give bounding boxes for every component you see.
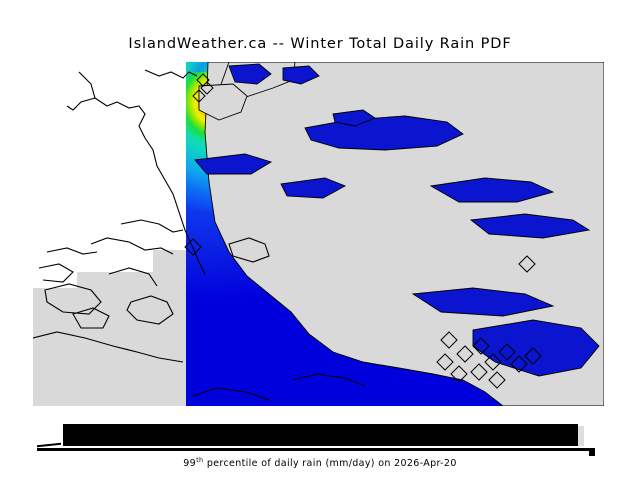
- colorbar-right-tick: [589, 451, 595, 456]
- out-of-domain-water-inlet: [33, 258, 77, 288]
- colorbar-over-cap: [578, 426, 584, 446]
- rain-field-raster: [186, 62, 604, 406]
- colorbar-container[interactable]: [0, 424, 640, 458]
- caption-rest: percentile of daily rain (mm/day) on 202…: [203, 458, 456, 469]
- page-title: IslandWeather.ca -- Winter Total Daily R…: [0, 36, 640, 52]
- rain-pdf-map-panel[interactable]: [33, 62, 604, 406]
- caption-value: 99: [183, 458, 196, 469]
- colorbar-axis-line: [37, 448, 595, 451]
- colorbar[interactable]: [63, 424, 578, 446]
- colorbar-caption: 99th percentile of daily rain (mm/day) o…: [0, 458, 640, 469]
- rain-field-hotspot-core: [186, 72, 300, 202]
- colorbar-left-tick: [37, 443, 61, 448]
